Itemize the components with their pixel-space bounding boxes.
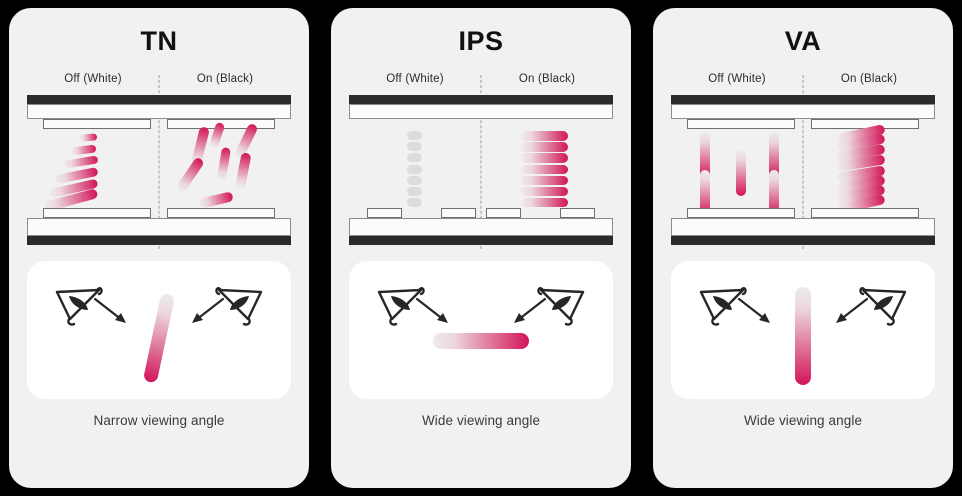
top-polarizer-ips: [349, 95, 613, 104]
lc-molecule: [407, 176, 422, 185]
bottom-electrode-left-va: [687, 208, 795, 218]
lc-molecule: [217, 147, 231, 180]
bottom-glass-ips: [349, 218, 613, 236]
lc-molecule: [521, 153, 568, 163]
lc-molecule: [521, 198, 568, 208]
lc-off-tn: [27, 129, 159, 208]
panel-card-va[interactable]: VA Off (White) On (Black): [653, 8, 953, 488]
viewing-bar-va: [795, 287, 811, 385]
panel-caption-va: Wide viewing angle: [744, 413, 862, 428]
lc-on-ips: [481, 129, 613, 208]
lc-molecule: [407, 165, 422, 174]
viewing-bar-ips: [433, 333, 529, 349]
lc-on-va: [803, 129, 935, 208]
arrow-down-left-icon: [511, 297, 547, 325]
top-glass-tn: [27, 104, 291, 119]
arrow-down-right-icon: [737, 297, 773, 325]
lc-molecule: [235, 152, 251, 189]
state-label-on-ips: On (Black): [481, 73, 613, 85]
top-polarizer-va: [671, 95, 935, 104]
lc-molecule: [521, 187, 568, 197]
bottom-polarizer-ips: [349, 236, 613, 245]
panel-area-va: [671, 95, 935, 245]
panel-card-ips[interactable]: IPS Off (White) On (Black): [331, 8, 631, 488]
bottom-electrode-1-ips: [367, 208, 401, 218]
lc-molecule: [407, 131, 422, 140]
lc-molecule: [521, 176, 568, 186]
panel-caption-tn: Narrow viewing angle: [93, 413, 224, 428]
lc-molecule: [521, 142, 568, 152]
lc-molecule: [521, 165, 568, 175]
state-label-on-tn: On (Black): [159, 73, 291, 85]
panel-title-tn: TN: [141, 28, 178, 55]
lc-molecule: [80, 133, 97, 141]
lc-molecule: [407, 153, 422, 162]
lc-molecule: [407, 142, 422, 151]
arrow-down-left-icon: [189, 297, 225, 325]
bottom-electrode-right-tn: [167, 208, 275, 218]
panel-area-tn: [27, 95, 291, 245]
lc-off-ips: [349, 129, 481, 208]
bottom-electrode-3-ips: [486, 208, 520, 218]
bottom-glass-va: [671, 218, 935, 236]
bottom-glass-tn: [27, 218, 291, 236]
panel-area-ips: [349, 95, 613, 245]
lc-off-va: [671, 129, 803, 208]
lc-molecule: [521, 131, 568, 141]
lc-molecule: [175, 156, 204, 193]
bottom-electrode-2-ips: [441, 208, 475, 218]
top-glass-ips: [349, 104, 613, 119]
stack-diagram-va: Off (White) On (Black): [671, 73, 935, 245]
lc-molecule: [407, 198, 422, 207]
top-glass-va: [671, 104, 935, 119]
comparison-board: TN Off (White) On (Black): [0, 0, 962, 496]
stack-diagram-ips: Off (White) On (Black): [349, 73, 613, 245]
state-label-off-tn: Off (White): [27, 73, 159, 85]
arrow-down-right-icon: [415, 297, 451, 325]
bottom-electrode-left-tn: [43, 208, 151, 218]
bottom-polarizer-tn: [27, 236, 291, 245]
top-polarizer-tn: [27, 95, 291, 104]
viewing-angle-card-tn: [27, 261, 291, 399]
panel-title-ips: IPS: [458, 28, 503, 55]
viewing-angle-card-ips: [349, 261, 613, 399]
lc-molecule: [198, 192, 233, 209]
bottom-electrode-right-va: [811, 208, 919, 218]
viewing-bar-tn: [143, 293, 175, 384]
bottom-polarizer-va: [671, 236, 935, 245]
lc-on-tn: [159, 129, 291, 208]
lc-molecule: [736, 150, 746, 196]
bottom-electrode-4-ips: [560, 208, 594, 218]
viewing-angle-card-va: [671, 261, 935, 399]
arrow-down-left-icon: [833, 297, 869, 325]
panel-title-va: VA: [785, 28, 822, 55]
top-electrode-left-tn: [43, 119, 151, 129]
panel-card-tn[interactable]: TN Off (White) On (Black): [9, 8, 309, 488]
lc-molecule: [70, 145, 96, 155]
arrow-down-right-icon: [93, 297, 129, 325]
stack-diagram-tn: Off (White) On (Black): [27, 73, 291, 245]
state-label-on-va: On (Black): [803, 73, 935, 85]
panel-caption-ips: Wide viewing angle: [422, 413, 540, 428]
state-label-off-ips: Off (White): [349, 73, 481, 85]
lc-molecule: [407, 187, 422, 196]
top-electrode-left-va: [687, 119, 795, 129]
state-label-off-va: Off (White): [671, 73, 803, 85]
